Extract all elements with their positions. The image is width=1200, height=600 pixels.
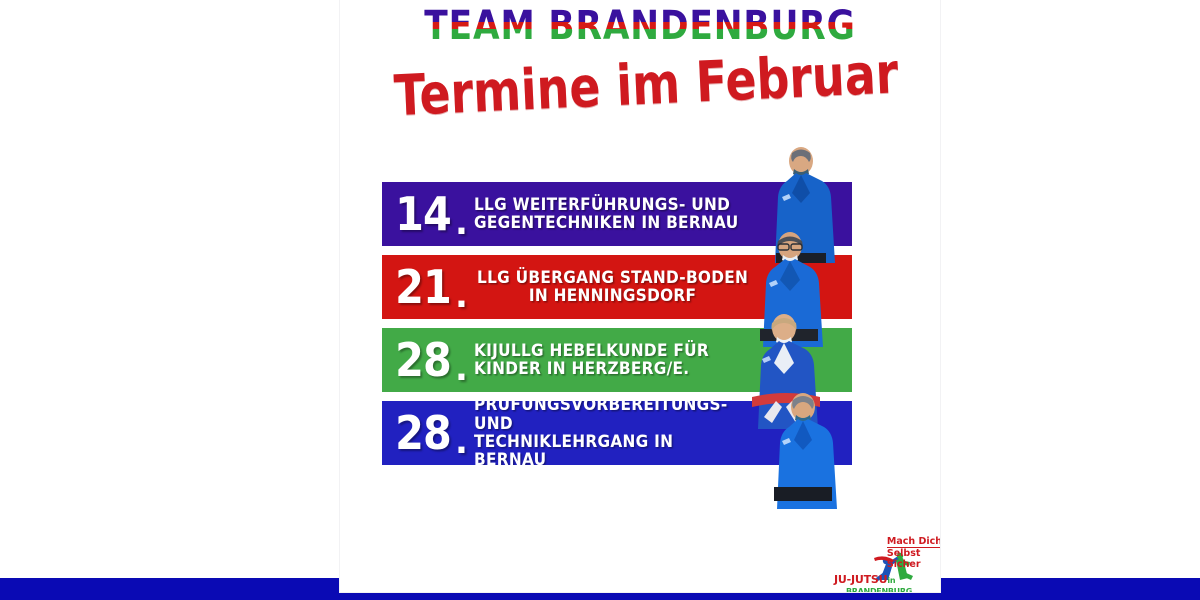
event-date-1: 14 . — [392, 191, 468, 237]
event-line-1: KIJULLG HEBELKUNDE FÜR — [474, 342, 746, 360]
event-line-1: LLG WEITERFÜHRUNGS- UND — [474, 196, 746, 214]
event-line-2: IN HENNINGSDORF — [474, 287, 751, 305]
month-heading: Termine im Februar — [393, 47, 887, 125]
event-row-2[interactable]: 21 . LLG ÜBERGANG STAND-BODEN IN HENNING… — [382, 255, 852, 319]
page-title: TEAM BRANDENBURG — [382, 6, 898, 46]
event-line-2: KINDER IN HERZBERG/E. — [474, 360, 746, 378]
logo-connector: in — [887, 576, 895, 585]
event-day-dot: . — [455, 279, 468, 313]
event-description-4: PRÜFUNGSVORBEREITUNGS- UND TECHNIKLEHRGA… — [474, 401, 826, 465]
event-day-dot: . — [455, 206, 468, 240]
claim-line-1: Mach Dich — [887, 536, 940, 548]
event-date-4: 28 . — [392, 410, 468, 456]
claim-line-3: Sicher — [887, 559, 921, 570]
event-description-3: KIJULLG HEBELKUNDE FÜR KINDER IN HERZBER… — [474, 342, 826, 379]
poster-sheet: TEAM BRANDENBURG Termine im Februar 14 .… — [340, 0, 940, 592]
event-date-2: 21 . — [392, 264, 468, 310]
event-date-3: 28 . — [392, 337, 468, 383]
event-day-number: 28 — [395, 337, 451, 383]
logo-region: BRANDENBURG — [846, 587, 912, 592]
event-day-dot: . — [455, 352, 468, 386]
event-description-2: LLG ÜBERGANG STAND-BODEN IN HENNINGSDORF — [474, 269, 826, 306]
poster-page: TEAM BRANDENBURG Termine im Februar 14 .… — [0, 0, 1200, 600]
logo-title: JU-JUTSUin — [834, 573, 895, 586]
association-logo[interactable]: JU-JUTSUin BRANDENBURG Mach Dich Selbst … — [834, 536, 940, 588]
event-list: 14 . LLG WEITERFÜHRUNGS- UND GEGENTECHNI… — [382, 182, 852, 474]
event-line-2: GEGENTECHNIKEN IN BERNAU — [474, 214, 746, 232]
event-line-2: TECHNIKLEHRGANG IN BERNAU — [474, 433, 746, 465]
logo-claim: Mach Dich Selbst Sicher — [887, 536, 940, 571]
event-day-number: 21 — [395, 264, 451, 310]
event-row-3[interactable]: 28 . KIJULLG HEBELKUNDE FÜR KINDER IN HE… — [382, 328, 852, 392]
event-day-number: 28 — [395, 410, 451, 456]
event-day-number: 14 — [395, 191, 451, 237]
event-day-dot: . — [455, 425, 468, 459]
event-line-1: LLG ÜBERGANG STAND-BODEN — [474, 269, 751, 287]
event-row-1[interactable]: 14 . LLG WEITERFÜHRUNGS- UND GEGENTECHNI… — [382, 182, 852, 246]
event-description-1: LLG WEITERFÜHRUNGS- UND GEGENTECHNIKEN I… — [474, 196, 826, 233]
event-row-4[interactable]: 28 . PRÜFUNGSVORBEREITUNGS- UND TECHNIKL… — [382, 401, 852, 465]
claim-line-2: Selbst — [887, 548, 921, 559]
event-line-1: PRÜFUNGSVORBEREITUNGS- UND — [474, 401, 746, 433]
